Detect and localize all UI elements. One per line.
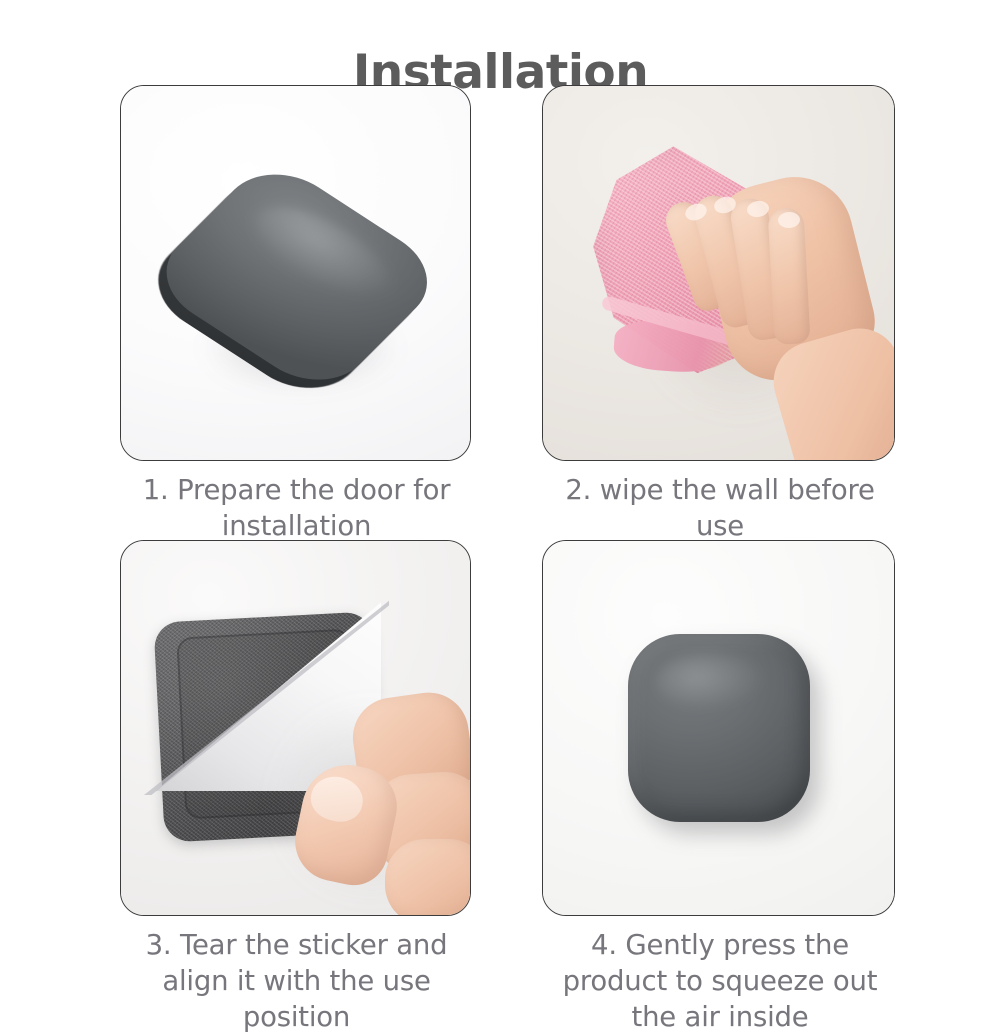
installation-step-4: 4. Gently press the product to squeeze o… xyxy=(542,540,895,1035)
step-2-photo-card xyxy=(542,85,895,461)
peeling-hand xyxy=(281,669,471,916)
finger-ring xyxy=(385,839,471,916)
step-4-caption: 4. Gently press the product to squeeze o… xyxy=(538,927,902,1035)
pad-top-face xyxy=(142,156,450,400)
step-3-caption: 3. Tear the sticker and align it with th… xyxy=(120,927,473,1035)
pad-highlight xyxy=(656,654,766,710)
installation-step-3: 3. Tear the sticker and align it with th… xyxy=(120,540,473,1035)
installation-step-2: 2. wipe the wall before use xyxy=(542,85,895,544)
step-2-caption: 2. wipe the wall before use xyxy=(538,472,902,544)
wiping-hand xyxy=(669,164,895,461)
step-3-photo-card xyxy=(120,540,471,916)
installation-steps-grid: 1. Prepare the door for installation xyxy=(0,85,1001,1001)
door-bumper-pad-angled xyxy=(178,163,413,398)
pad-highlight xyxy=(235,190,411,321)
mounted-pad xyxy=(628,634,810,822)
installation-step-1: 1. Prepare the door for installation xyxy=(120,85,473,544)
step-4-photo-card xyxy=(542,540,895,916)
step-1-caption: 1. Prepare the door for installation xyxy=(120,472,473,544)
step-1-photo-card xyxy=(120,85,471,461)
